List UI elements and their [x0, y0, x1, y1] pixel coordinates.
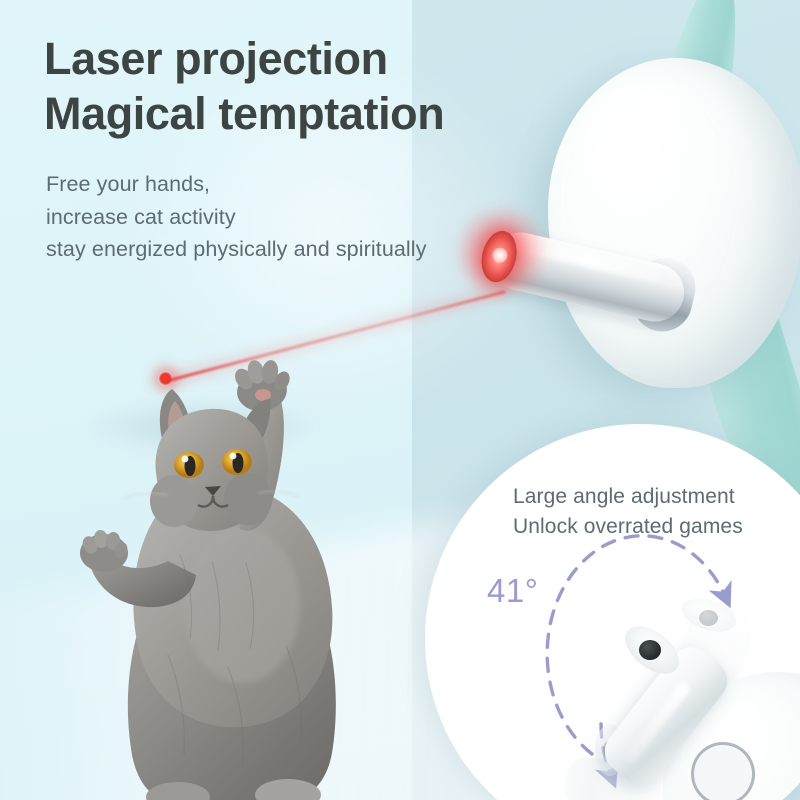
- cat-cheek-left: [150, 475, 198, 527]
- angle-adjustment-inset: Large angle adjustment Unlock overrated …: [425, 424, 800, 800]
- cat-illustration: [60, 355, 400, 800]
- cat-eye-right: [222, 449, 252, 475]
- inset-main-hole: [639, 640, 661, 660]
- cat-cheek-right: [224, 473, 272, 525]
- cat-eye-left: [174, 452, 204, 478]
- device-body-highlight: [580, 84, 700, 234]
- laser-emitter-device: [430, 0, 800, 460]
- page-title: Laser projection Magical temptation: [44, 32, 444, 142]
- subtitle-text: Free your hands, increase cat activity s…: [46, 168, 427, 266]
- cat-chest-highlight: [184, 527, 300, 683]
- ghost-hole-up: [699, 610, 718, 626]
- product-banner: Laser projection Magical temptation Free…: [0, 0, 800, 800]
